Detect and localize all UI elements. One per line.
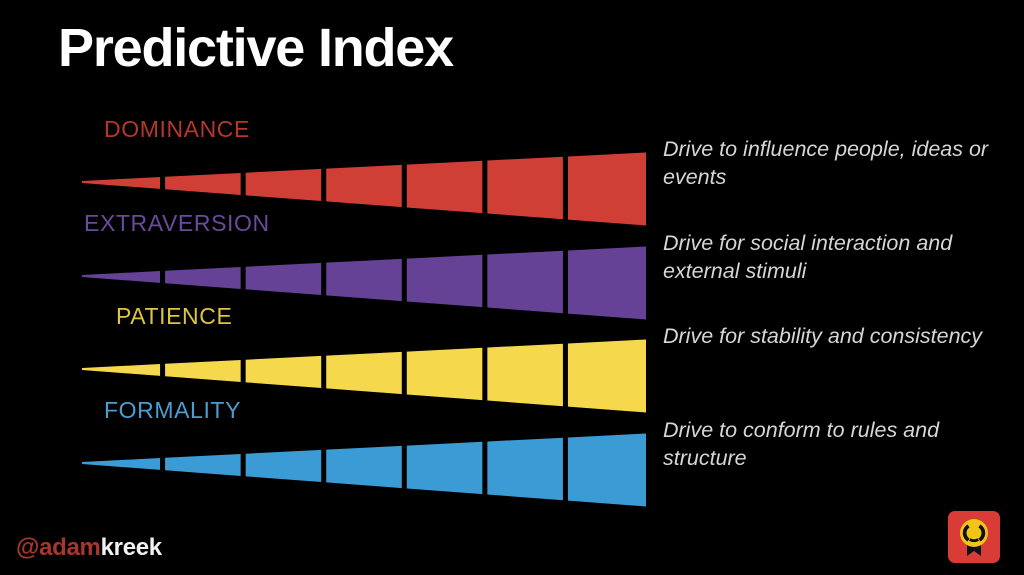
- wedge-segment: [82, 177, 160, 189]
- wedge-segment: [407, 442, 483, 494]
- wedge-segment: [165, 360, 241, 382]
- wedge-segment: [82, 271, 160, 283]
- wedge-segment: [568, 153, 646, 226]
- wedge-segment: [326, 165, 402, 207]
- wedge-segment: [407, 161, 483, 213]
- wedge-segment: [568, 340, 646, 413]
- trait-description-extraversion: Drive for social interaction and externa…: [663, 230, 993, 285]
- trait-description-formality: Drive to conform to rules and structure: [663, 417, 993, 472]
- wedge-segment: [568, 247, 646, 320]
- wedge-segment: [487, 438, 563, 501]
- social-handle-at: @adam: [16, 534, 101, 561]
- wedge-segment: [246, 263, 322, 295]
- wedge-segment: [326, 446, 402, 488]
- wedge-segment: [165, 173, 241, 195]
- social-handle: @adamkreek: [16, 534, 162, 562]
- wedge-segment: [407, 348, 483, 400]
- slide-canvas: Predictive Index DOMINANCE Drive to infl…: [0, 0, 1024, 575]
- social-handle-name: kreek: [101, 534, 162, 561]
- wedge-segment: [326, 259, 402, 301]
- wedge-segment: [246, 450, 322, 482]
- wedge-segment: [487, 157, 563, 220]
- wedge-segment: [568, 434, 646, 507]
- wedge-segment: [82, 364, 160, 376]
- trait-wedge-formality: [80, 413, 650, 511]
- wedge-segment: [326, 352, 402, 394]
- wedge-segment: [82, 458, 160, 470]
- award-medal-logo: [948, 511, 1000, 563]
- wedge-segment: [246, 356, 322, 388]
- wedge-segment: [407, 255, 483, 307]
- trait-description-dominance: Drive to influence people, ideas or even…: [663, 136, 993, 191]
- wedge-segment: [246, 169, 322, 201]
- wedge-segment: [165, 454, 241, 476]
- page-title: Predictive Index: [58, 21, 453, 75]
- wedge-segment: [165, 267, 241, 289]
- wedge-segment: [487, 344, 563, 407]
- wedge-segment: [487, 251, 563, 314]
- trait-description-patience: Drive for stability and consistency: [663, 323, 993, 351]
